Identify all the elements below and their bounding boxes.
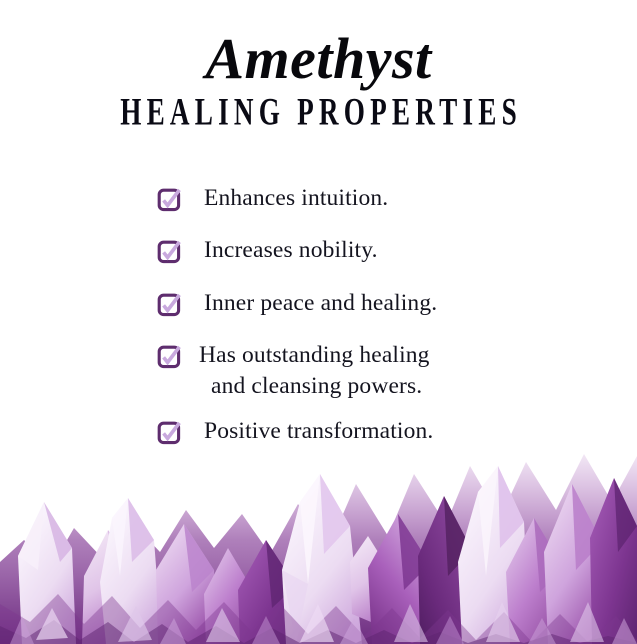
list-item: Has outstanding healingand cleansing pow…	[157, 340, 577, 403]
list-item-label-line1: Has outstanding healing	[199, 340, 577, 371]
poster-header: Amethyst HEALING PROPERTIES	[0, 0, 637, 127]
amethyst-healing-properties-poster: Amethyst HEALING PROPERTIES Enhances int…	[0, 0, 637, 644]
list-item: Increases nobility.	[157, 235, 577, 266]
page-subtitle: HEALING PROPERTIES	[64, 89, 574, 132]
checkbox-checked-icon	[157, 343, 183, 369]
healing-properties-list: Enhances intuition. Increases nobility. …	[157, 183, 577, 469]
list-item-label: Enhances intuition.	[204, 183, 577, 214]
list-item: Inner peace and healing.	[157, 288, 577, 319]
list-item: Positive transformation.	[157, 416, 577, 447]
list-item: Enhances intuition.	[157, 183, 577, 214]
amethyst-crystal-image	[0, 444, 637, 644]
list-item-label-line2: and cleansing powers.	[199, 371, 577, 402]
checkbox-checked-icon	[157, 419, 183, 445]
checkbox-checked-icon	[157, 186, 183, 212]
checkbox-checked-icon	[157, 238, 183, 264]
checkbox-checked-icon	[157, 291, 183, 317]
list-item-label: Positive transformation.	[204, 416, 577, 447]
list-item-label: Increases nobility.	[204, 235, 577, 266]
list-item-label: Inner peace and healing.	[204, 288, 577, 319]
page-title: Amethyst	[0, 0, 637, 89]
list-item-label: Has outstanding healingand cleansing pow…	[199, 340, 577, 403]
